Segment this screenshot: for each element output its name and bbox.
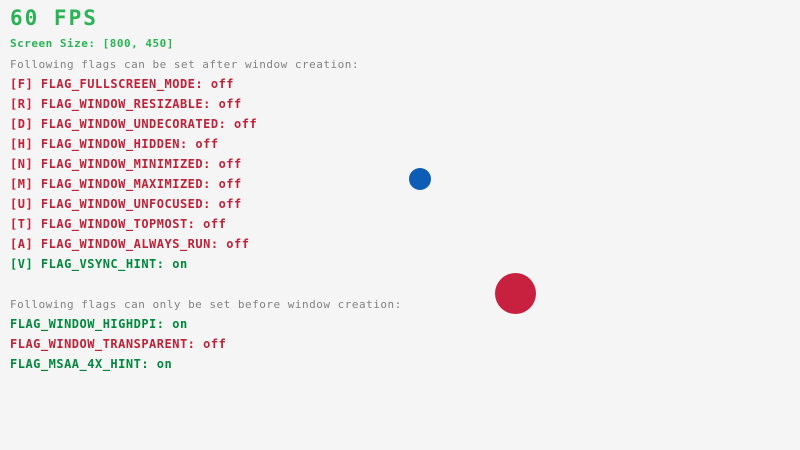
screen-size-label: Screen Size: [800, 450]	[10, 38, 174, 49]
flag-row-window-minimized[interactable]: [N] FLAG_WINDOW_MINIMIZED: off	[10, 158, 242, 170]
creation-flags-header: Following flags can only be set before w…	[10, 299, 402, 310]
flag-row-window-resizable[interactable]: [R] FLAG_WINDOW_RESIZABLE: off	[10, 98, 242, 110]
flag-row-window-maximized[interactable]: [M] FLAG_WINDOW_MAXIMIZED: off	[10, 178, 242, 190]
flag-row-window-always-run[interactable]: [A] FLAG_WINDOW_ALWAYS_RUN: off	[10, 238, 249, 250]
flag-row-window-topmost[interactable]: [T] FLAG_WINDOW_TOPMOST: off	[10, 218, 226, 230]
flag-row-msaa-4x-hint: FLAG_MSAA_4X_HINT: on	[10, 358, 172, 370]
flag-row-window-highdpi: FLAG_WINDOW_HIGHDPI: on	[10, 318, 188, 330]
flag-row-fullscreen-mode[interactable]: [F] FLAG_FULLSCREEN_MODE: off	[10, 78, 234, 90]
runtime-flags-header: Following flags can be set after window …	[10, 59, 359, 70]
flag-row-window-transparent: FLAG_WINDOW_TRANSPARENT: off	[10, 338, 226, 350]
bouncing-ball-blue	[409, 168, 431, 190]
flag-row-window-hidden[interactable]: [H] FLAG_WINDOW_HIDDEN: off	[10, 138, 219, 150]
flag-row-window-undecorated[interactable]: [D] FLAG_WINDOW_UNDECORATED: off	[10, 118, 257, 130]
bouncing-ball-red	[495, 273, 536, 314]
fps-counter: 60 FPS	[10, 8, 98, 29]
flag-row-window-unfocused[interactable]: [U] FLAG_WINDOW_UNFOCUSED: off	[10, 198, 242, 210]
flag-row-vsync-hint[interactable]: [V] FLAG_VSYNC_HINT: on	[10, 258, 188, 270]
raylib-window-canvas[interactable]: 60 FPS Screen Size: [800, 450] Following…	[0, 0, 800, 450]
